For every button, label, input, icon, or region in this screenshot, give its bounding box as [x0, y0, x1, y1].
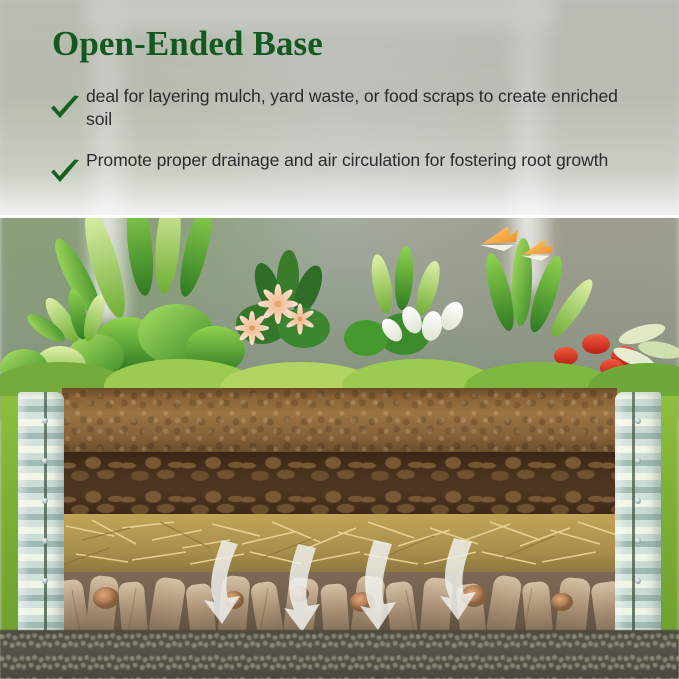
feature-item: Promote proper drainage and air circulat… [48, 149, 639, 192]
post-rivet [635, 498, 641, 504]
page-title: Open-Ended Base [52, 24, 323, 64]
post-seam-left [44, 392, 47, 638]
feature-text: Promote proper drainage and air circulat… [86, 149, 608, 172]
post-rivet [42, 498, 48, 504]
header-overlay: Open-Ended Base deal for layering mulch,… [0, 0, 679, 218]
post-seam-right [632, 392, 635, 638]
check-icon [48, 95, 82, 128]
post-rivet [42, 418, 48, 424]
left-corner-post [18, 392, 64, 638]
post-rivet [635, 418, 641, 424]
ground-layer [0, 630, 679, 679]
post-rivet [635, 538, 641, 544]
post-rivet [42, 538, 48, 544]
product-feature-poster: Open-Ended Base deal for layering mulch,… [0, 0, 679, 679]
feature-text: deal for layering mulch, yard waste, or … [86, 85, 639, 131]
post-rivet [635, 578, 641, 584]
post-rivet [635, 458, 641, 464]
post-rivet [42, 458, 48, 464]
feature-list: deal for layering mulch, yard waste, or … [48, 85, 639, 210]
right-corner-post [615, 392, 661, 638]
post-rivet [42, 578, 48, 584]
feature-item: deal for layering mulch, yard waste, or … [48, 85, 639, 131]
check-icon [48, 159, 82, 192]
